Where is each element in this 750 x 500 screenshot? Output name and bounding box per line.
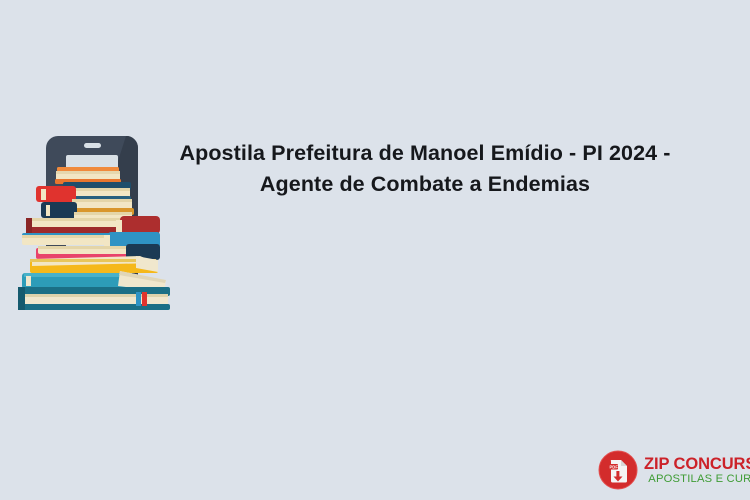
page-title: Apostila Prefeitura de Manoel Emídio - P… — [175, 138, 675, 200]
product-banner: Apostila Prefeitura de Manoel Emídio - P… — [0, 0, 750, 500]
pdf-download-icon: PDF — [598, 450, 638, 490]
books-illustration — [8, 132, 178, 312]
logo-secondary-text: APOSTILAS E CURSOS — [644, 473, 750, 486]
logo-wordmark: ZIP CONCURSOS APOSTILAS E CURSOS — [644, 455, 750, 486]
brand-logo[interactable]: PDF ZIP CONCURSOS APOSTILAS E CURSOS — [598, 448, 744, 492]
book-maroon — [26, 216, 160, 234]
svg-text:PDF: PDF — [610, 464, 619, 469]
logo-primary-text: ZIP CONCURSOS — [644, 455, 750, 473]
book-yellow — [30, 256, 158, 273]
book-base — [18, 287, 170, 310]
book-orange-top — [55, 167, 121, 184]
product-title-line-1: Apostila Prefeitura de Manoel Emídio - P… — [175, 138, 675, 169]
product-title-line-2: Agente de Combate a Endemias — [175, 169, 675, 200]
